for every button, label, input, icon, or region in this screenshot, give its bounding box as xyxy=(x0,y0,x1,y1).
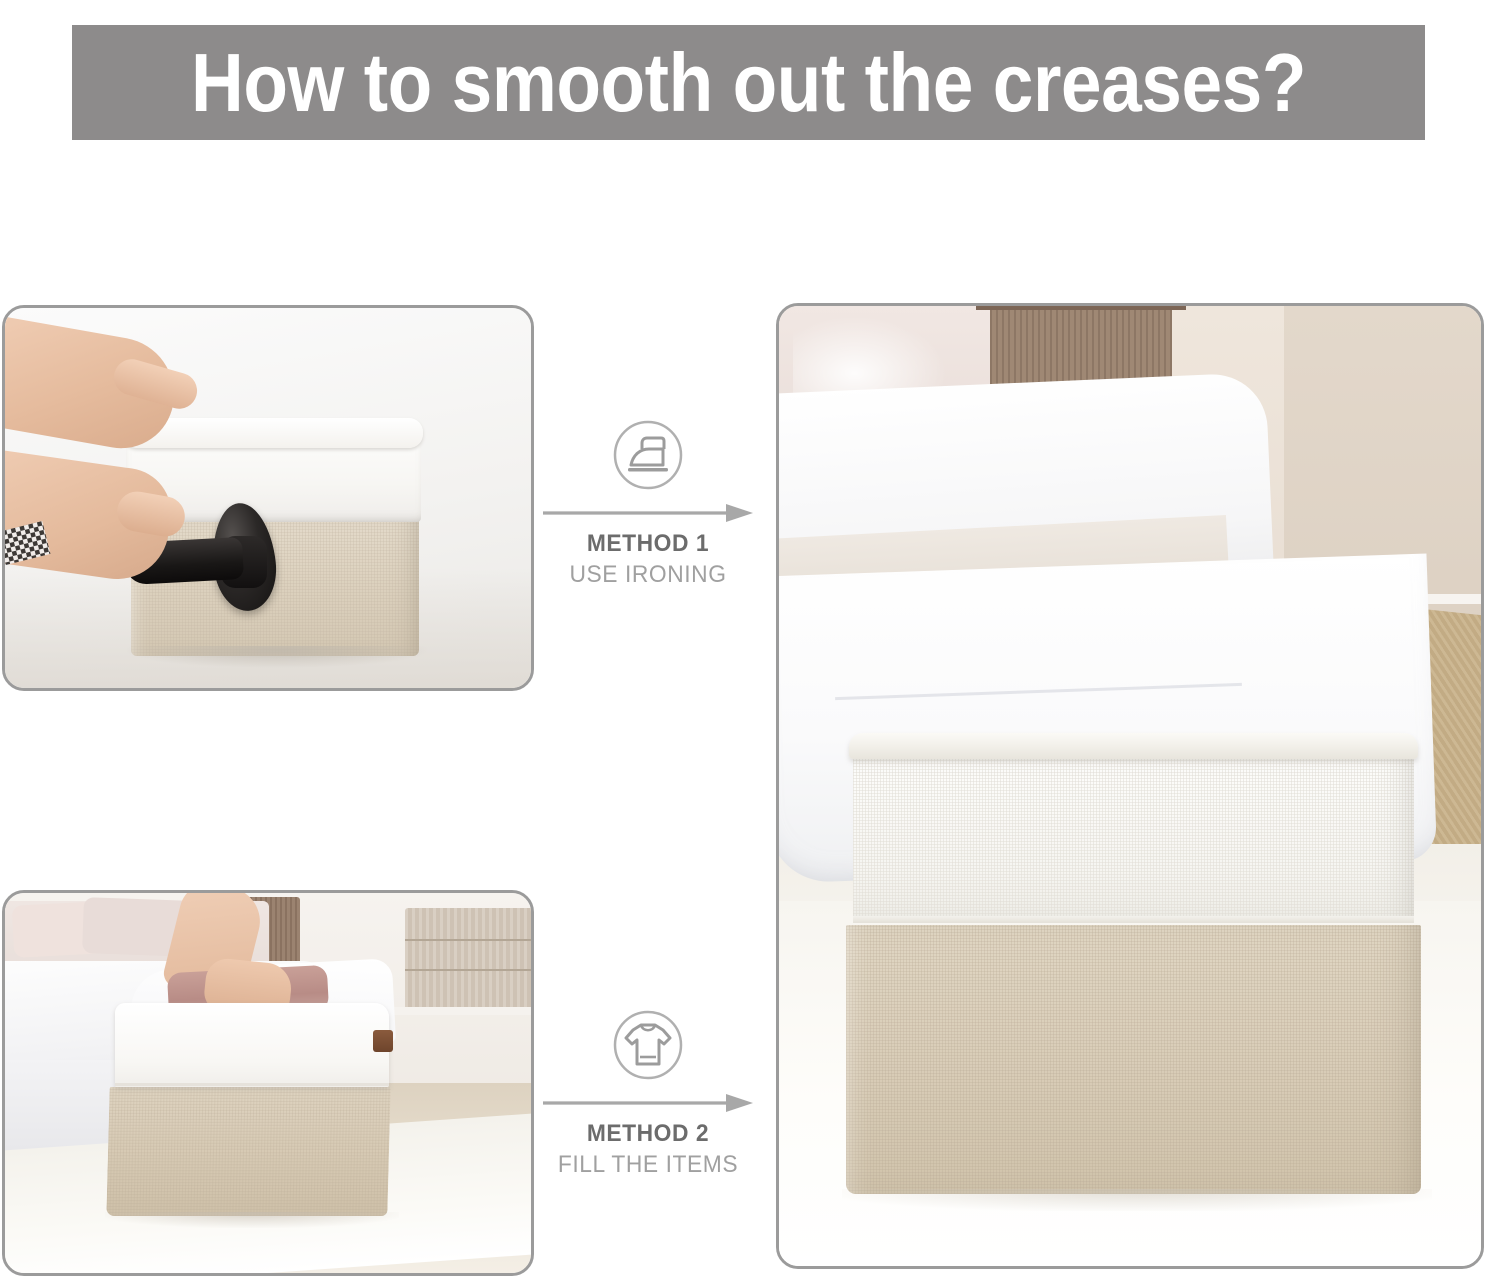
page-title: How to smooth out the creases? xyxy=(191,41,1306,124)
bedroom-hero-scene xyxy=(779,306,1481,1266)
header-banner: How to smooth out the creases? xyxy=(72,25,1425,140)
nightstand-top xyxy=(976,306,1187,310)
basket-rim xyxy=(123,418,423,448)
finished-basket-photo xyxy=(776,303,1484,1269)
basket-linen-body xyxy=(131,514,419,656)
method-2-block: METHOD 2 FILL THE ITEMS xyxy=(532,1008,764,1179)
right-arrow-icon xyxy=(541,1092,756,1114)
dresser-drawer-line xyxy=(405,969,531,971)
basket-ground-shadow xyxy=(105,1212,400,1228)
method-1-icon-wrap xyxy=(532,418,764,492)
basket-seam xyxy=(115,1083,389,1086)
method-1-block: METHOD 1 USE IRONING xyxy=(532,418,764,589)
bedroom-scene xyxy=(5,893,531,1273)
method-1-arrow xyxy=(541,502,756,524)
method-2-arrow xyxy=(541,1092,756,1114)
method-1-subtitle: USE IRONING xyxy=(538,561,758,589)
basket-ground-shadow xyxy=(127,646,427,668)
steaming-basket-photo xyxy=(2,305,534,691)
method-2-title: METHOD 2 xyxy=(538,1120,758,1148)
basket-seam xyxy=(853,916,1415,923)
basket-white-panel xyxy=(853,757,1415,920)
tshirt-icon xyxy=(611,1008,685,1082)
steaming-basket-scene xyxy=(5,308,531,688)
basket-linen-body xyxy=(846,925,1422,1194)
method-2-subtitle: FILL THE ITEMS xyxy=(538,1151,758,1179)
basket-rim xyxy=(849,733,1418,759)
iron-icon xyxy=(611,418,685,492)
dresser-drawer-line xyxy=(405,939,531,941)
right-arrow-icon xyxy=(541,502,756,524)
method-2-icon-wrap xyxy=(532,1008,764,1082)
basket-ground-shadow xyxy=(842,1189,1432,1211)
method-1-title: METHOD 1 xyxy=(538,530,758,558)
filling-basket-photo xyxy=(2,890,534,1276)
wooden-dresser xyxy=(405,908,531,1014)
basket-white-panel xyxy=(115,1003,389,1087)
basket-linen-body xyxy=(106,1087,391,1216)
leather-tag xyxy=(373,1030,393,1052)
